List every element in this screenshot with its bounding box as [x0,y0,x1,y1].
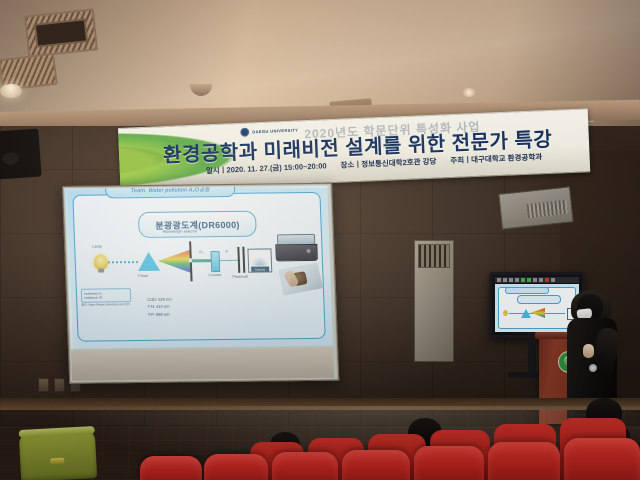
auditorium-photo: DAEGU UNIVERSITY 2020년도 학문단위 특성화 사업 환경공학… [0,0,640,480]
seat-rows [150,424,640,480]
monitor-slide-title [517,295,561,304]
monitor-slide-tab [505,287,549,294]
monitor-toolbar [495,277,579,283]
spectrum-dispersion [157,249,192,273]
beam-segment-1 [108,261,140,263]
green-chair[interactable] [19,430,97,480]
presentation-slide: Team. Water pollution A₂O공정 분광광도계(DR6000… [65,186,333,349]
label-wavelength-selector: Wavelength selector [163,229,197,233]
label-cuvette: Cuvette [208,273,221,277]
screen-blank-area [71,348,334,381]
seat-front-row[interactable] [272,452,338,480]
prism-icon [137,252,160,271]
lamp-icon [94,254,109,269]
seat-front-row[interactable] [204,454,268,480]
seat-front-row[interactable] [564,438,640,480]
seat-front-row[interactable] [414,446,484,480]
label-p0: P₀ [199,250,203,254]
seat-front-row[interactable] [342,450,410,480]
spectrophotometer-photo [275,234,316,260]
slide-team-label: Team. Water pollution A₂O공정 [131,186,210,194]
label-lamp: Lamp [92,245,102,249]
photocell-icon-2 [242,247,245,273]
monitor-prism-icon [521,309,531,318]
cuvette-icon [210,251,220,272]
coat-logo-icon [589,364,597,372]
air-vent-icon [24,8,98,57]
seat-front-row[interactable] [140,456,202,480]
ceiling-speaker-icon [462,88,476,97]
downlight-icon [0,84,22,98]
label-prism: Prism [138,274,148,278]
beam-segment-3 [218,260,240,261]
wavelength-list: COD: 620 nm T-N: 410 nm T-P: 880 nm [147,296,172,318]
diagram-note-line-2: Irradiance, W [84,295,128,300]
detector-label: Display [251,266,269,271]
detector-display: Display [247,248,272,272]
wavelength-tp: T-P: 880 nm [148,310,173,318]
diagram-note: Incoherent P₀ Irradiance, W [81,288,132,303]
slide-team-tab: Team. Water pollution A₂O공정 [105,186,236,199]
photocell-icon [237,247,240,273]
diagram-source: 출처. https://www.chemistry.com/123 [81,302,129,307]
beam-segment-2 [192,260,212,263]
projection-screen: Team. Water pollution A₂O공정 분광광도계(DR6000… [62,183,339,384]
wavelength-tn: T-N: 410 nm [147,303,172,311]
label-p: P [225,250,228,254]
spectrophotometer-diagram: Wavelength selector Lamp Prism P₀ Cuvett… [79,231,261,295]
monitor-lamp-icon [503,310,508,316]
label-photocell: Photocell [232,275,248,279]
presenter-hand [583,344,594,358]
seat-front-row[interactable] [488,442,560,480]
